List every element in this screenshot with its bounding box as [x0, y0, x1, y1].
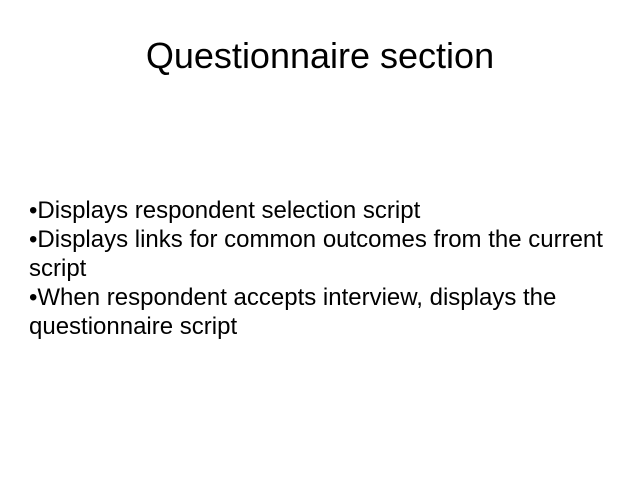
- slide-body-text: •Displays respondent selection script •D…: [29, 196, 625, 341]
- presentation-slide: Questionnaire section •Displays responde…: [0, 0, 640, 480]
- list-item-label: Displays respondent selection script: [37, 197, 420, 224]
- page-title: Questionnaire section: [0, 34, 640, 78]
- list-item: •When respondent accepts interview, disp…: [29, 283, 625, 341]
- list-item-label: Displays links for common outcomes from …: [29, 226, 610, 282]
- list-item-label: When respondent accepts interview, displ…: [29, 284, 563, 340]
- list-item: •Displays links for common outcomes from…: [29, 225, 625, 283]
- list-item: •Displays respondent selection script: [29, 196, 625, 225]
